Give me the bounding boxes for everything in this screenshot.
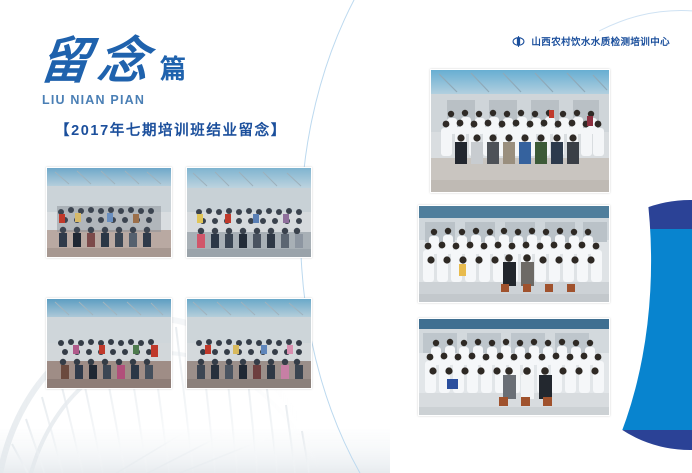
subtitle: 【2017年七期培训班结业留念】 xyxy=(55,119,287,140)
group-photo-right-1 xyxy=(430,69,610,193)
group-photo-left-4 xyxy=(186,298,312,389)
circular-emblem-icon xyxy=(512,35,525,48)
group-photo-left-2 xyxy=(186,167,312,258)
group-photo-right-3 xyxy=(418,318,610,416)
calligraphy-title: 留念 xyxy=(37,36,158,86)
title-row: 留念 篇 xyxy=(40,36,186,86)
light-blue-block-shape xyxy=(611,229,692,430)
group-photo-right-2 xyxy=(418,205,610,303)
title-pinyin: LIU NIAN PIAN xyxy=(42,93,186,107)
title-suffix-char: 篇 xyxy=(160,57,186,86)
title-block: 留念 篇 LIU NIAN PIAN xyxy=(40,36,186,107)
page-root: 山西农村饮水水质检测培训中心 留念 篇 LIU NIAN PIAN 【2017年… xyxy=(0,0,692,473)
header-title: 山西农村饮水水质检测培训中心 xyxy=(531,34,670,48)
header: 山西农村饮水水质检测培训中心 xyxy=(512,34,670,48)
group-photo-left-3 xyxy=(46,298,172,389)
group-photo-left-1 xyxy=(46,167,172,258)
